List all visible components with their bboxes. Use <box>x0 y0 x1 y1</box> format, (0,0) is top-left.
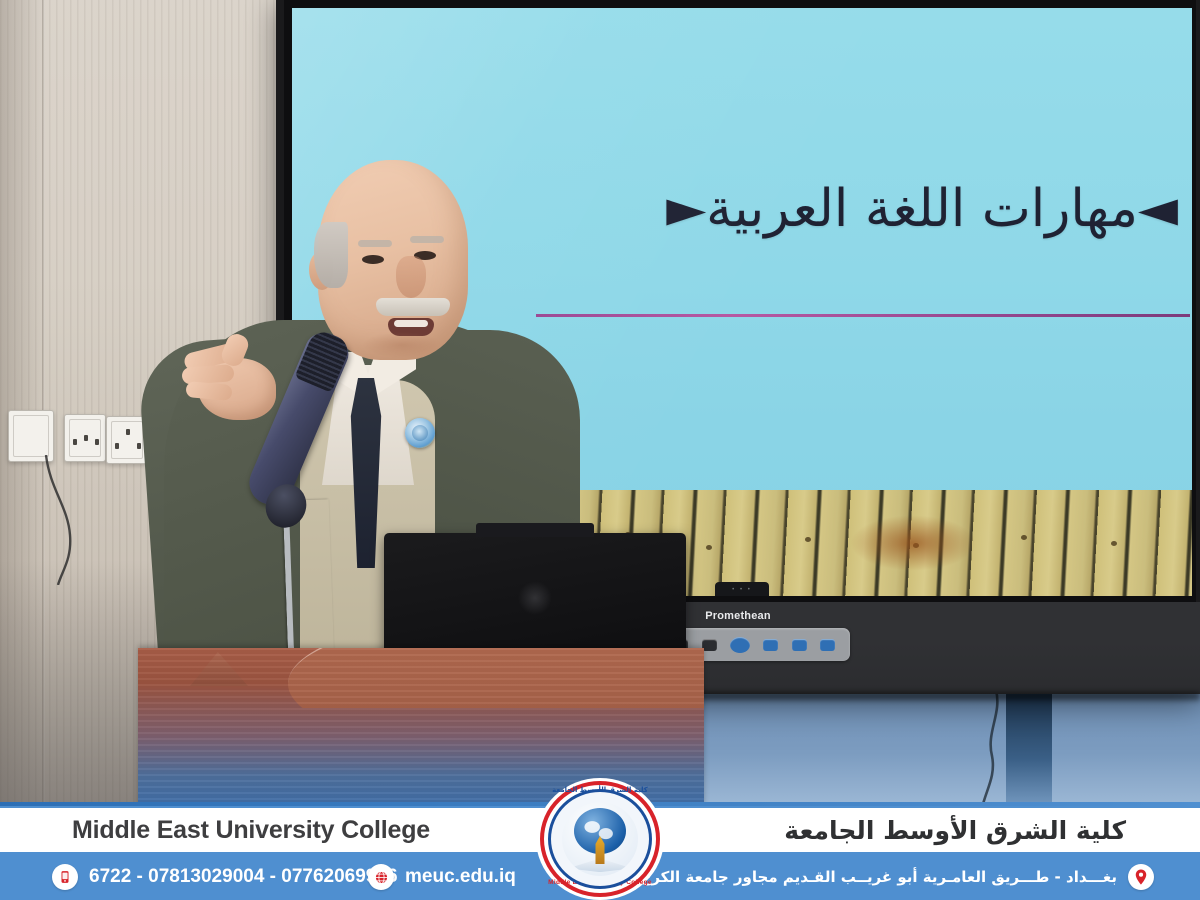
globe-icon <box>368 864 394 890</box>
channel-down-button[interactable] <box>792 639 807 651</box>
wood-knot <box>1021 535 1027 540</box>
socket-hole <box>126 429 130 435</box>
eye-left <box>362 255 384 264</box>
mustache <box>376 298 450 316</box>
light-switch-face <box>13 415 49 457</box>
presenter-head <box>318 160 468 360</box>
display-camera-nub: • • • <box>715 582 769 596</box>
institution-name-en: Middle East University College <box>72 808 430 852</box>
chin-shadow <box>362 332 442 358</box>
eyebrow-left <box>358 240 392 247</box>
wood-knot <box>1111 541 1117 546</box>
hp-logo-icon <box>518 581 552 615</box>
laptop-hinge <box>476 523 594 537</box>
socket-hole <box>73 439 77 445</box>
contact-phone[interactable]: 6722 - 07813029004 - 07762069996 <box>52 854 398 900</box>
channel-up-button[interactable] <box>763 639 778 651</box>
institution-name-ar: كلية الشرق الأوسط الجامعة <box>784 808 1126 852</box>
input-button[interactable] <box>820 639 835 651</box>
slide-underline-rule <box>536 314 1190 317</box>
wood-knot <box>706 545 712 550</box>
address-text: بغـــداد - طـــريق العامـرية أبو غريــب … <box>589 868 1117 886</box>
socket-hole <box>84 435 88 441</box>
volume-button[interactable] <box>730 637 750 653</box>
logo-emblem <box>562 802 638 876</box>
socket-hole <box>137 443 141 449</box>
hanging-cable <box>978 690 1012 802</box>
wood-knot <box>913 543 919 548</box>
presenter-hand <box>180 330 290 430</box>
finger-ring <box>185 381 232 401</box>
contact-website[interactable]: meuc.edu.iq <box>368 854 516 900</box>
lapel-pin <box>405 418 435 448</box>
eyebrow-right <box>410 236 444 243</box>
phone-numbers: 6722 - 07813029004 - 07762069996 <box>89 866 398 888</box>
lecture-photo: ◄مهارات اللغة العربية► • • • <box>0 0 1200 802</box>
contact-address: بغـــداد - طـــريق العامـرية أبو غريــب … <box>589 854 1154 900</box>
wall-pillar <box>1006 694 1052 802</box>
socket-hole <box>115 443 119 449</box>
location-pin-icon <box>1128 864 1154 890</box>
socket-2-face <box>111 421 143 459</box>
nose <box>396 256 426 298</box>
mobile-phone-icon <box>52 864 78 890</box>
wood-knot <box>805 537 811 542</box>
socket-hole <box>95 439 99 445</box>
website-url: meuc.edu.iq <box>405 866 516 888</box>
screenshot-root: ◄مهارات اللغة العربية► • • • <box>0 0 1200 900</box>
hair <box>314 222 348 288</box>
wall-cable <box>40 455 100 585</box>
university-logo: كلية الشرق الأوسط الجامعة Middle East Un… <box>536 778 664 900</box>
